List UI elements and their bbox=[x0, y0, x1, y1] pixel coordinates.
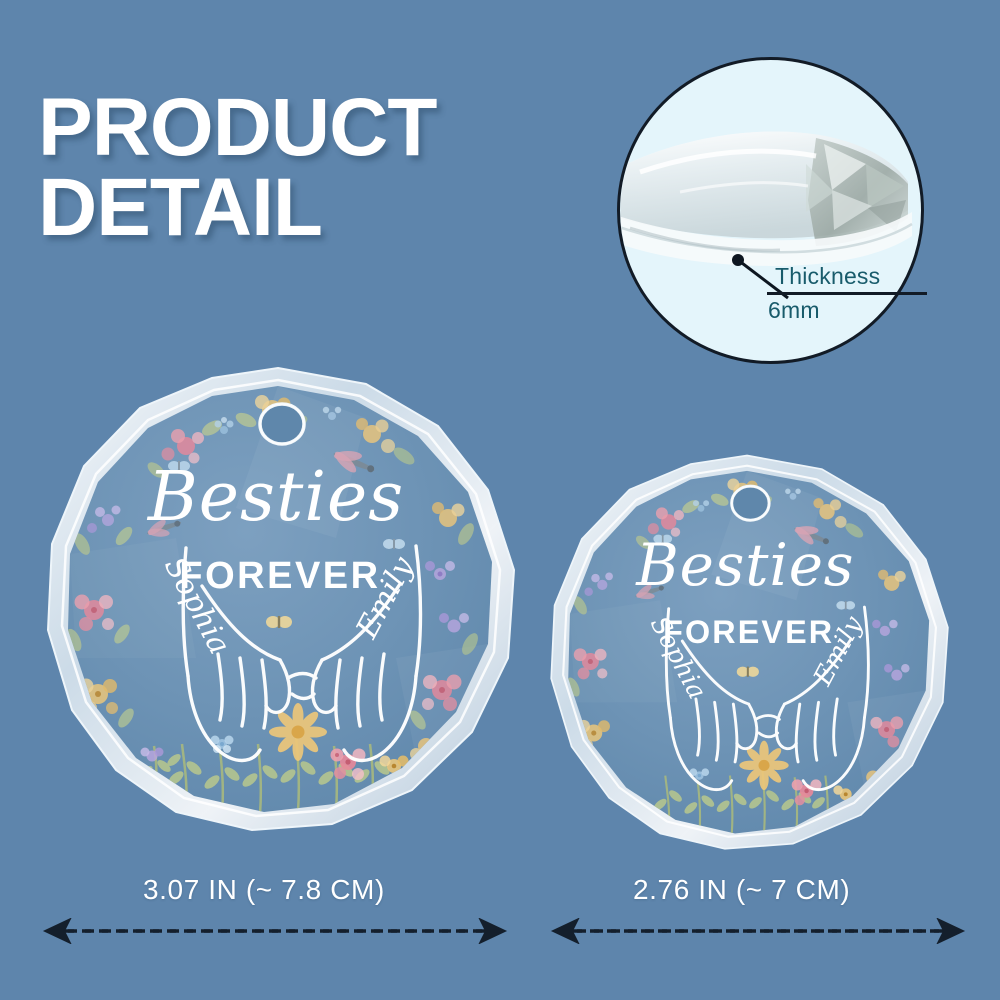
thickness-value: 6mm bbox=[768, 297, 820, 324]
ornament-large[interactable]: Besties FOREVER Sophia Emily bbox=[36, 358, 520, 858]
butterfly bbox=[383, 539, 405, 549]
page-title-line-2: DETAIL bbox=[38, 168, 638, 248]
ornament-block-text: FOREVER bbox=[663, 614, 834, 650]
thickness-title: Thickness bbox=[775, 263, 880, 290]
page-title: PRODUCT DETAIL bbox=[38, 88, 638, 249]
page-title-line-1: PRODUCT bbox=[38, 82, 436, 173]
butterfly bbox=[836, 601, 855, 610]
ornament-script-text: Besties bbox=[146, 458, 404, 537]
thickness-rule bbox=[767, 292, 927, 295]
ornament-script-text: Besties bbox=[635, 531, 854, 599]
dimension-arrow-large bbox=[30, 918, 520, 944]
hanging-hole bbox=[260, 404, 304, 444]
product-detail-canvas: PRODUCT DETAIL bbox=[0, 0, 1000, 1000]
hanging-hole bbox=[732, 486, 769, 520]
dimension-label-small: 2.76 IN (~ 7 CM) bbox=[633, 874, 850, 906]
dimension-label-large: 3.07 IN (~ 7.8 CM) bbox=[143, 874, 385, 906]
ornament-small[interactable]: Besties FOREVER Sophia Emily bbox=[541, 447, 953, 865]
butterfly bbox=[266, 616, 292, 628]
butterfly bbox=[737, 667, 759, 677]
dimension-arrow-small bbox=[538, 918, 978, 944]
